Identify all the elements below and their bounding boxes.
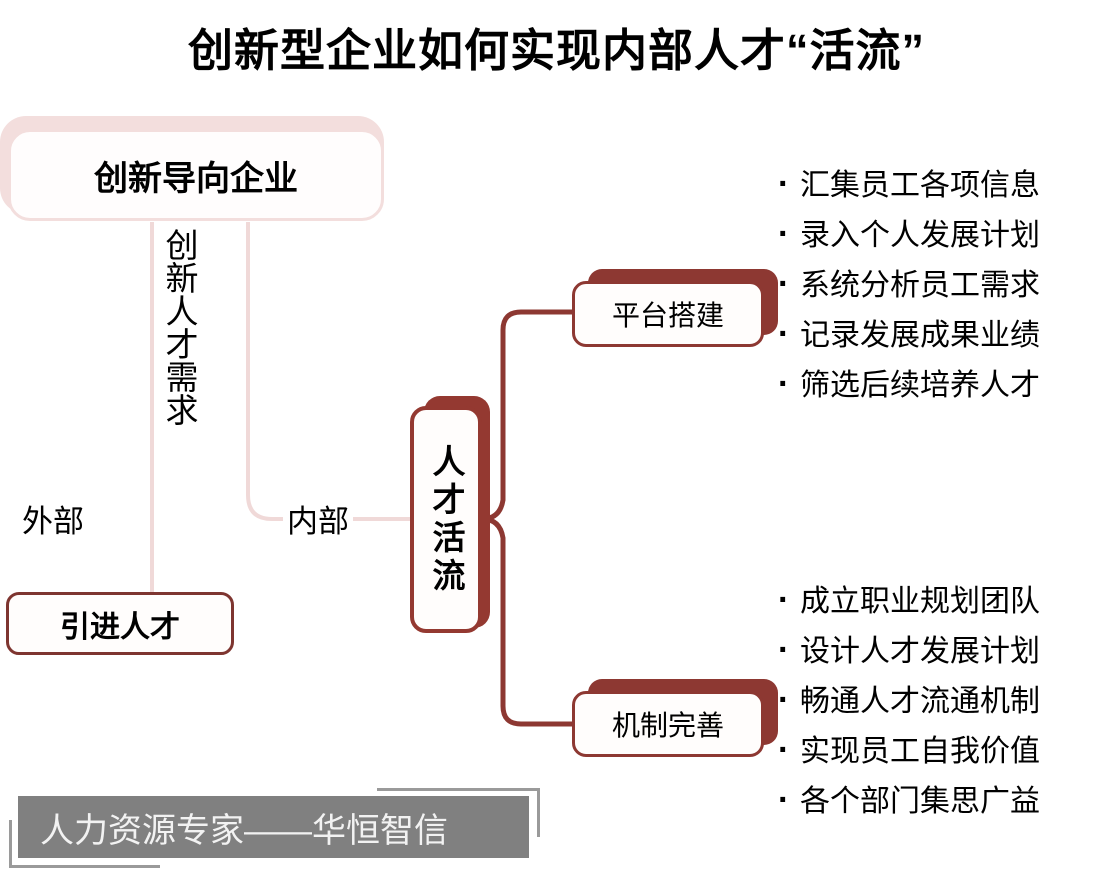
node-mechanism-improvement[interactable]: 机制完善 [572, 691, 764, 757]
bullet-list-mechanism: 成立职业规划团队 设计人才发展计划 畅通人才流通机制 实现员工自我价值 各个部门… [778, 576, 1113, 826]
footer-text: 人力资源专家——华恒智信 [18, 803, 448, 852]
list-item: 畅通人才流通机制 [778, 676, 1113, 726]
node-platform-building[interactable]: 平台搭建 [572, 281, 764, 347]
edge-root-to-core [248, 222, 410, 519]
list-item: 录入个人发展计划 [778, 210, 1113, 260]
list-item: 系统分析员工需求 [778, 260, 1113, 310]
edge-core-to-mechanism [482, 519, 572, 724]
bullet-list-platform: 汇集员工各项信息 录入个人发展计划 系统分析员工需求 记录发展成果业绩 筛选后续… [778, 160, 1113, 410]
footer-bar: 人力资源专家——华恒智信 [18, 796, 529, 858]
node-talent-flow[interactable]: 人才活流 [410, 406, 482, 633]
diagram-canvas: 创新型企业如何实现内部人才“活流” 创新导向企业 创新人才需求 外部 内部 引进… [0, 0, 1113, 876]
bullet-list-platform-items: 汇集员工各项信息 录入个人发展计划 系统分析员工需求 记录发展成果业绩 筛选后续… [778, 160, 1113, 410]
bullet-list-mechanism-items: 成立职业规划团队 设计人才发展计划 畅通人才流通机制 实现员工自我价值 各个部门… [778, 576, 1113, 826]
list-item: 设计人才发展计划 [778, 626, 1113, 676]
list-item: 筛选后续培养人才 [778, 360, 1113, 410]
list-item: 记录发展成果业绩 [778, 310, 1113, 360]
list-item: 成立职业规划团队 [778, 576, 1113, 626]
list-item: 实现员工自我价值 [778, 726, 1113, 776]
list-item: 汇集员工各项信息 [778, 160, 1113, 210]
node-innovation-oriented-enterprise[interactable]: 创新导向企业 [8, 129, 384, 221]
footer-watermark: 人力资源专家——华恒智信 [0, 782, 570, 876]
node-import-talent[interactable]: 引进人才 [6, 592, 234, 655]
list-item: 各个部门集思广益 [778, 776, 1113, 826]
edge-label-talent-demand: 创新人才需求 [160, 228, 198, 426]
edge-label-internal: 内部 [283, 496, 353, 541]
edge-core-to-platform [482, 312, 572, 519]
edge-label-external: 外部 [18, 496, 88, 541]
